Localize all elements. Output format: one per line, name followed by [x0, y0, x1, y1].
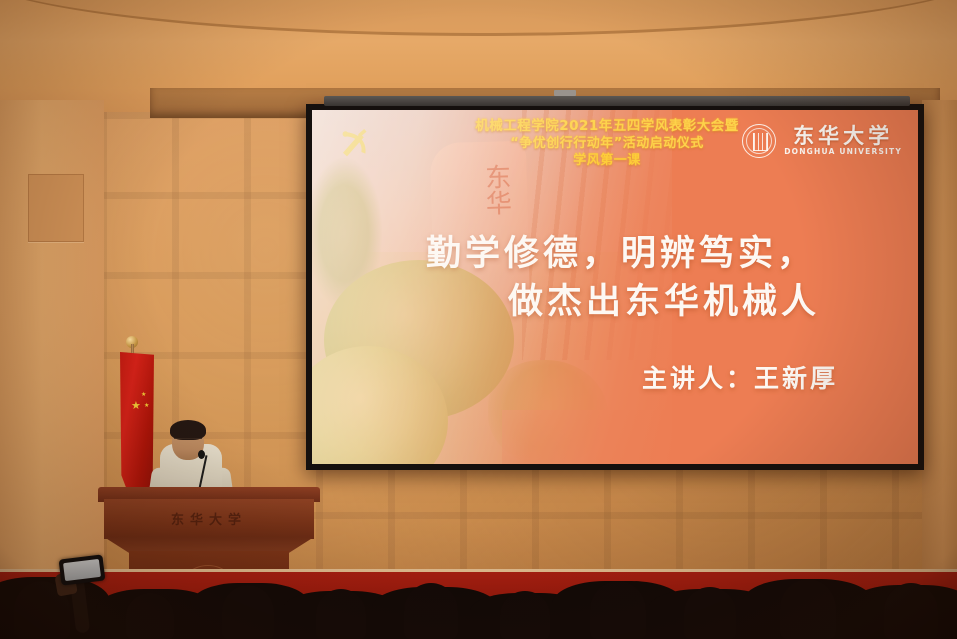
pilaster-inset-panel: [28, 174, 84, 242]
university-name-en: DONGHUA UNIVERSITY: [784, 147, 902, 157]
flag-star-large: ★: [131, 400, 141, 411]
flag-star-small-2: ★: [144, 403, 149, 409]
screen-roller-bar: [324, 96, 910, 106]
audience-head: [884, 583, 938, 639]
roller-logo-badge: [554, 90, 576, 96]
microphone-head-icon: [198, 450, 205, 459]
audience-head: [404, 583, 458, 639]
projection-screen-frame: 东华: [306, 104, 924, 470]
smartphone-camera[interactable]: [59, 554, 106, 585]
audience-head: [780, 579, 836, 639]
chinese-national-flag-icon: [120, 352, 154, 492]
audience-head: [316, 589, 366, 639]
slide-header: 机械工程学院2021年五四学风表彰大会暨 “争优创行行动年”活动启动仪式 学风第…: [312, 110, 918, 184]
slide-speaker-line: 主讲人：王新厚: [642, 364, 838, 394]
university-name-cn: 东华大学: [793, 125, 893, 147]
cpc-hammer-sickle-icon: [334, 124, 376, 164]
speaker-glasses: [174, 438, 202, 445]
speaker-hair: [170, 420, 206, 440]
audience-head: [590, 581, 646, 639]
audience-rows: [0, 520, 957, 639]
ceiling-curve-band: [0, 0, 957, 36]
audience-head: [500, 591, 550, 639]
audience-head: [684, 587, 736, 639]
auditorium-scene: 东华: [0, 0, 957, 639]
flag-star-small-1: ★: [141, 392, 146, 398]
presentation-slide: 东华: [312, 110, 918, 464]
university-logo: 东华大学 DONGHUA UNIVERSITY: [742, 124, 902, 158]
slide-body-line-1: 勤学修德，明辨笃实，: [426, 234, 816, 274]
slide-body-line-2: 做杰出东华机械人: [508, 282, 820, 322]
audience-head: [126, 593, 174, 639]
audience-head: [222, 585, 274, 639]
university-name-block: 东华大学 DONGHUA UNIVERSITY: [784, 125, 902, 157]
donghua-seal-icon: [742, 124, 776, 158]
phone-screen: [63, 559, 101, 581]
